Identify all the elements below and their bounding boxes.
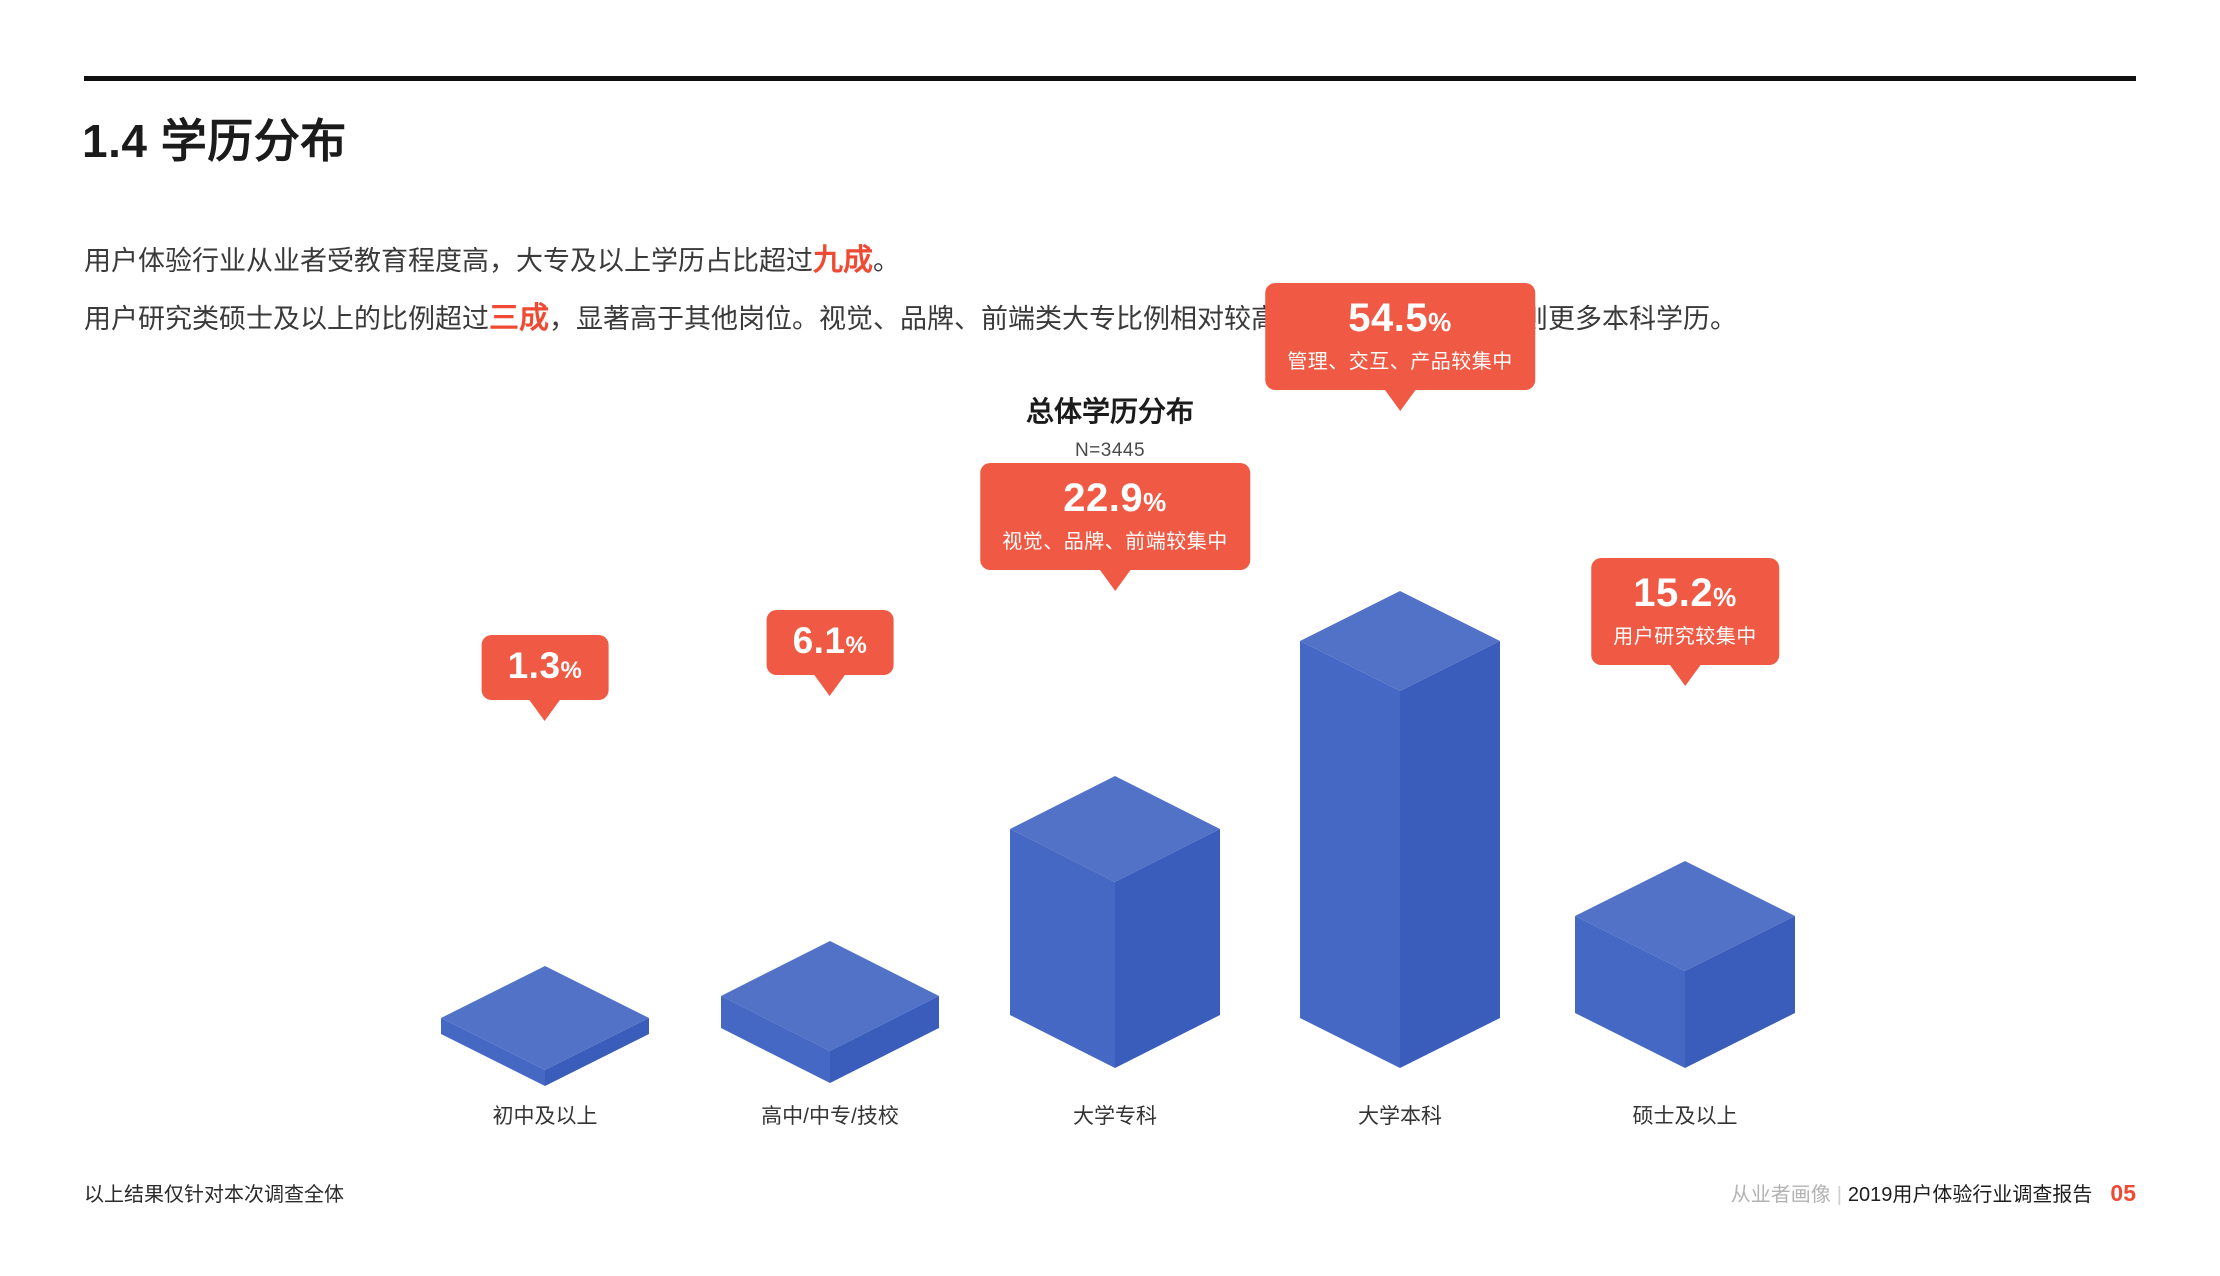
intro-line-2-text-a: 用户研究类硕士及以上的比例超过 [84,304,489,334]
bar-group-4: 54.5% 管理、交互、产品较集中 大学本科 [1275,390,1525,1130]
category-label-2: 高中/中专/技校 [761,1100,899,1130]
callout-tail-2 [814,674,846,696]
bar-group-3: 22.9% 视觉、品牌、前端较集中 大学专科 [990,390,1240,1130]
intro-line-1-text-a: 用户体验行业从业者受教育程度高，大专及以上学历占比超过 [84,246,813,276]
intro-line-2-highlight: 三成 [489,302,549,335]
callout-percent-symbol-2: % [846,632,868,659]
callout-percent-value-5: 15.2 [1633,571,1713,615]
callout-percent-symbol-1: % [561,657,583,684]
bar-3d-5 [1569,857,1801,1072]
value-callout-1: 1.3% [482,635,609,700]
value-callout-4: 54.5% 管理、交互、产品较集中 [1265,283,1535,390]
footer-note: 以上结果仅针对本次调查全体 [84,1178,344,1207]
footer-separator: | [1837,1184,1842,1206]
callout-tail-3 [1099,569,1131,591]
bar-group-5: 15.2% 用户研究较集中 硕士及以上 [1560,390,1810,1130]
intro-line-1: 用户体验行业从业者受教育程度高，大专及以上学历占比超过九成。 [84,232,1984,290]
bar-3d-2 [715,937,945,1072]
category-label-1: 初中及以上 [493,1100,598,1130]
value-callout-3: 22.9% 视觉、品牌、前端较集中 [980,463,1250,570]
callout-tail-1 [529,699,561,721]
callout-percent-4: 54.5% [1287,297,1513,339]
bar-group-2: 6.1% 高中/中专/技校 [705,390,955,1130]
callout-percent-symbol-4: % [1428,307,1452,337]
callout-percent-2: 6.1% [793,622,868,661]
callout-percent-value-3: 22.9 [1063,476,1143,520]
bar-group-1: 1.3% 初中及以上 [420,390,670,1130]
category-label-3: 大学专科 [1073,1100,1157,1130]
footer-report-name: 2019用户体验行业调查报告 [1848,1184,2093,1206]
bar-3d-4 [1294,587,1506,1072]
callout-note-4: 管理、交互、产品较集中 [1287,345,1513,374]
category-label-4: 大学本科 [1358,1100,1442,1130]
callout-percent-value-2: 6.1 [793,620,846,661]
callout-percent-symbol-5: % [1713,582,1737,612]
callout-percent-value-4: 54.5 [1348,296,1428,340]
callout-tail-5 [1669,664,1701,686]
bar-3d-1 [435,962,655,1072]
callout-note-5: 用户研究较集中 [1613,620,1757,649]
intro-line-2: 用户研究类硕士及以上的比例超过三成，显著高于其他岗位。视觉、品牌、前端类大专比例… [84,290,1984,348]
category-label-5: 硕士及以上 [1633,1100,1738,1130]
footer-branding: 从业者画像|2019用户体验行业调查报告05 [1731,1178,2136,1207]
intro-paragraph: 用户体验行业从业者受教育程度高，大专及以上学历占比超过九成。 用户研究类硕士及以… [84,232,1984,348]
footer-chapter: 从业者画像 [1731,1184,1831,1206]
callout-tail-4 [1384,389,1416,411]
intro-line-1-text-b: 。 [873,246,900,276]
slide-page: 1.4 学历分布 用户体验行业从业者受教育程度高，大专及以上学历占比超过九成。 … [0,0,2220,1276]
chart-container: 总体学历分布 N=3445 1.3% 初中及以上 [0,390,2220,1130]
bar-3d-3 [1004,772,1226,1072]
page-number: 05 [2110,1180,2136,1206]
chart-plot-area: 1.3% 初中及以上 6.1% [0,390,2220,1130]
callout-percent-3: 22.9% [1002,477,1228,519]
value-callout-2: 6.1% [767,610,894,675]
page-title: 1.4 学历分布 [82,105,347,171]
intro-line-2-text-b: ，显著高于其他岗位。视觉、品牌、前端类大专比例相对较高，管理、交互、产品则更多本… [549,304,1737,334]
callout-percent-value-1: 1.3 [508,645,561,686]
callout-percent-5: 15.2% [1613,572,1757,614]
callout-percent-1: 1.3% [508,647,583,686]
value-callout-5: 15.2% 用户研究较集中 [1591,558,1779,665]
header-divider [84,76,2136,81]
intro-line-1-highlight: 九成 [813,244,873,277]
callout-note-3: 视觉、品牌、前端较集中 [1002,525,1228,554]
callout-percent-symbol-3: % [1143,487,1167,517]
